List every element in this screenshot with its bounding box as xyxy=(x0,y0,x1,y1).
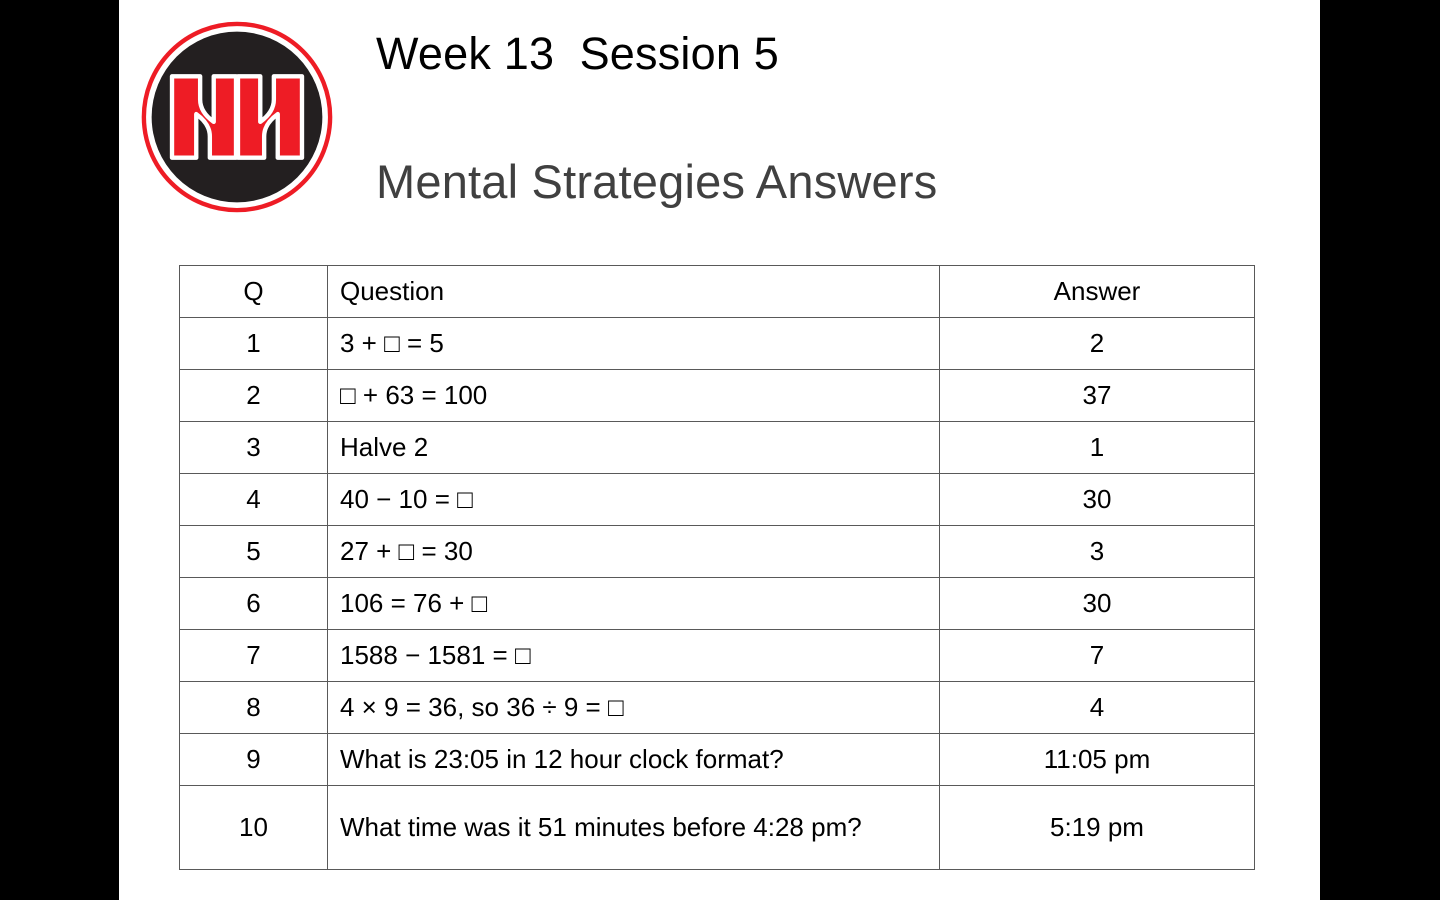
letterbox-bar-left xyxy=(0,0,119,900)
table-row: 71588 − 1581 = □7 xyxy=(180,630,1255,682)
cell-question-number: 8 xyxy=(180,682,328,734)
cell-question-number: 1 xyxy=(180,318,328,370)
column-header-answer: Answer xyxy=(940,266,1255,318)
cell-question-text: Halve 2 xyxy=(328,422,940,474)
table-row: 2□ + 63 = 10037 xyxy=(180,370,1255,422)
cell-question-number: 6 xyxy=(180,578,328,630)
cell-question-number: 7 xyxy=(180,630,328,682)
cell-answer-text: 3 xyxy=(940,526,1255,578)
table-row: 6106 = 76 + □30 xyxy=(180,578,1255,630)
cell-question-text: 106 = 76 + □ xyxy=(328,578,940,630)
column-header-question: Question xyxy=(328,266,940,318)
column-header-q: Q xyxy=(180,266,328,318)
slide-title: Week 13 Session 5 xyxy=(376,28,779,80)
cell-question-text: 3 + □ = 5 xyxy=(328,318,940,370)
table-header-row: Q Question Answer xyxy=(180,266,1255,318)
cell-question-number: 9 xyxy=(180,734,328,786)
cell-question-text: 1588 − 1581 = □ xyxy=(328,630,940,682)
cell-question-number: 5 xyxy=(180,526,328,578)
cell-question-text: 40 − 10 = □ xyxy=(328,474,940,526)
cell-answer-text: 30 xyxy=(940,578,1255,630)
slide-canvas: Week 13 Session 5 Mental Strategies Answ… xyxy=(119,0,1320,900)
cell-question-number: 4 xyxy=(180,474,328,526)
table-row: 527 + □ = 303 xyxy=(180,526,1255,578)
cell-answer-text: 11:05 pm xyxy=(940,734,1255,786)
cell-question-number: 2 xyxy=(180,370,328,422)
cell-question-text: □ + 63 = 100 xyxy=(328,370,940,422)
cell-answer-text: 30 xyxy=(940,474,1255,526)
table-row: 13 + □ = 52 xyxy=(180,318,1255,370)
table-row: 9What is 23:05 in 12 hour clock format?1… xyxy=(180,734,1255,786)
slide-stage: Week 13 Session 5 Mental Strategies Answ… xyxy=(0,0,1440,900)
cell-answer-text: 5:19 pm xyxy=(940,786,1255,870)
table-row: 84 × 9 = 36, so 36 ÷ 9 = □4 xyxy=(180,682,1255,734)
table-header: Q Question Answer xyxy=(180,266,1255,318)
table-row: 3Halve 21 xyxy=(180,422,1255,474)
cell-question-text: What is 23:05 in 12 hour clock format? xyxy=(328,734,940,786)
table-row: 10What time was it 51 minutes before 4:2… xyxy=(180,786,1255,870)
cell-question-text: 27 + □ = 30 xyxy=(328,526,940,578)
cell-answer-text: 1 xyxy=(940,422,1255,474)
cell-answer-text: 2 xyxy=(940,318,1255,370)
table-body: 13 + □ = 522□ + 63 = 100373Halve 21440 −… xyxy=(180,318,1255,870)
slide-subtitle: Mental Strategies Answers xyxy=(376,155,937,209)
mental-strategies-answers-table: Q Question Answer 13 + □ = 522□ + 63 = 1… xyxy=(179,265,1255,870)
cell-question-number: 3 xyxy=(180,422,328,474)
cell-answer-text: 37 xyxy=(940,370,1255,422)
cell-answer-text: 7 xyxy=(940,630,1255,682)
cell-answer-text: 4 xyxy=(940,682,1255,734)
nh-monogram-logo-icon xyxy=(140,20,334,214)
cell-question-text: What time was it 51 minutes before 4:28 … xyxy=(328,786,940,870)
letterbox-bar-right xyxy=(1320,0,1440,900)
cell-question-number: 10 xyxy=(180,786,328,870)
table-row: 440 − 10 = □30 xyxy=(180,474,1255,526)
cell-question-text: 4 × 9 = 36, so 36 ÷ 9 = □ xyxy=(328,682,940,734)
